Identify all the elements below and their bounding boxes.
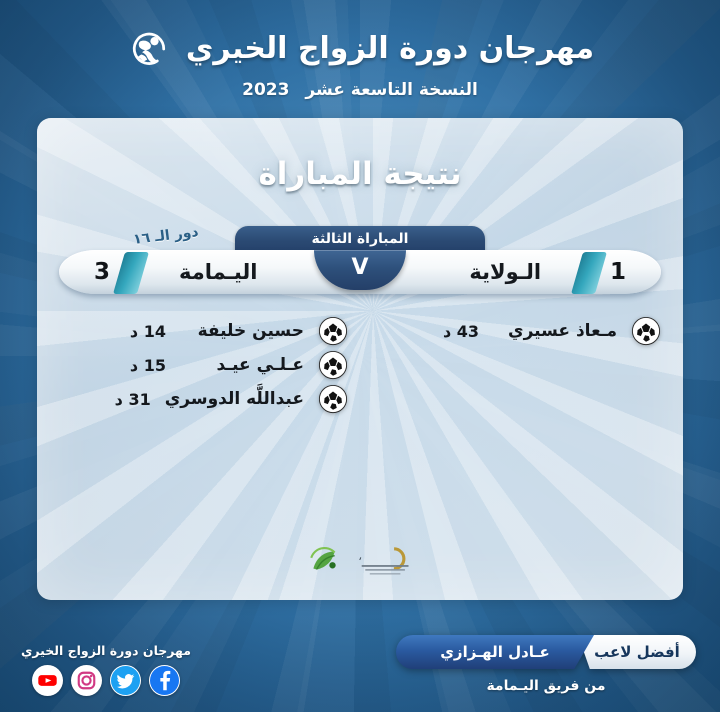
- scorer-minute: 43 د: [443, 322, 479, 341]
- mvp-label: أفضل لاعب: [578, 635, 696, 669]
- edition-text: النسخة التاسعة عشر: [305, 80, 478, 100]
- scorer-name: حسين خليفة: [180, 321, 304, 341]
- result-panel: نتيجة المباراة دور الـ ١٦ المباراة الثال…: [37, 118, 683, 600]
- svg-text:AFL: AFL: [359, 549, 362, 563]
- soccer-ball-icon: [318, 384, 348, 414]
- right-team-name: الـولاية: [469, 260, 541, 284]
- right-team-score: 1: [601, 259, 635, 285]
- scorer-row: حسين خليفة 14 د: [59, 314, 348, 348]
- mvp-footer: أفضل لاعب عـادل الهـزازي من فريق اليـمام…: [396, 635, 696, 694]
- match-number-tab: المباراة الثالثة: [235, 226, 485, 253]
- poster-header: مهرجان دورة الزواج الخيري النسخة التاسعة…: [0, 0, 720, 112]
- mvp-team: من فريق اليـمامة: [396, 678, 696, 694]
- scorer-name: مـعاذ عسيري: [493, 321, 617, 341]
- soccer-ball-icon: [631, 316, 661, 346]
- social-caption: مهرجان دورة الزواج الخيري: [14, 643, 198, 658]
- soccer-ball-icon: [318, 350, 348, 380]
- left-team-scorer-list: حسين خليفة 14 د عـلـي عيـد 15 د: [59, 314, 354, 416]
- twitter-icon[interactable]: [110, 665, 141, 696]
- scorer-minute: 15 د: [130, 356, 166, 375]
- header-title-row: مهرجان دورة الزواج الخيري: [0, 0, 720, 72]
- left-team-name: اليـمامة: [179, 260, 258, 284]
- scorer-name: عـلـي عيـد: [180, 355, 304, 375]
- scorer-minute: 31 د: [115, 390, 151, 409]
- page-title: نتيجة المباراة: [37, 156, 683, 192]
- social-icon-row: [14, 665, 198, 696]
- scorer-row: عـلـي عيـد 15 د: [59, 348, 348, 382]
- scorer-row: مـعاذ عسيري 43 د: [372, 314, 661, 348]
- left-team-score: 3: [85, 259, 119, 285]
- scorer-name: عبداللَّه الدوسري: [165, 389, 304, 409]
- facebook-icon[interactable]: [149, 665, 180, 696]
- running-athlete-icon: [126, 26, 172, 72]
- right-team-scorer-list: مـعاذ عسيري 43 د: [366, 314, 661, 348]
- afl-logo-icon: AFL: [359, 544, 413, 578]
- youtube-icon[interactable]: [32, 665, 63, 696]
- social-footer: مهرجان دورة الزواج الخيري: [14, 643, 198, 696]
- poster-canvas: مهرجان دورة الزواج الخيري النسخة التاسعة…: [0, 0, 720, 712]
- festival-edition: النسخة التاسعة عشر 2023: [0, 80, 720, 100]
- edition-year: 2023: [242, 80, 289, 100]
- scorebar: دور الـ ١٦ المباراة الثالثة 1 الـولاية ا…: [59, 226, 661, 298]
- instagram-icon[interactable]: [71, 665, 102, 696]
- scorer-minute: 14 د: [130, 322, 166, 341]
- green-leaf-logo-icon: [307, 544, 341, 578]
- round-label: دور الـ ١٦: [132, 224, 199, 248]
- mvp-bar: أفضل لاعب عـادل الهـزازي: [396, 635, 696, 669]
- sponsor-logos: AFL: [37, 544, 683, 578]
- festival-title: مهرجان دورة الزواج الخيري: [186, 34, 594, 64]
- scorer-row: عبداللَّه الدوسري 31 د: [59, 382, 348, 416]
- goal-scorers: مـعاذ عسيري 43 د حسين خليفة 14 د: [59, 314, 661, 416]
- mvp-name: عـادل الهـزازي: [396, 635, 594, 669]
- soccer-ball-icon: [318, 316, 348, 346]
